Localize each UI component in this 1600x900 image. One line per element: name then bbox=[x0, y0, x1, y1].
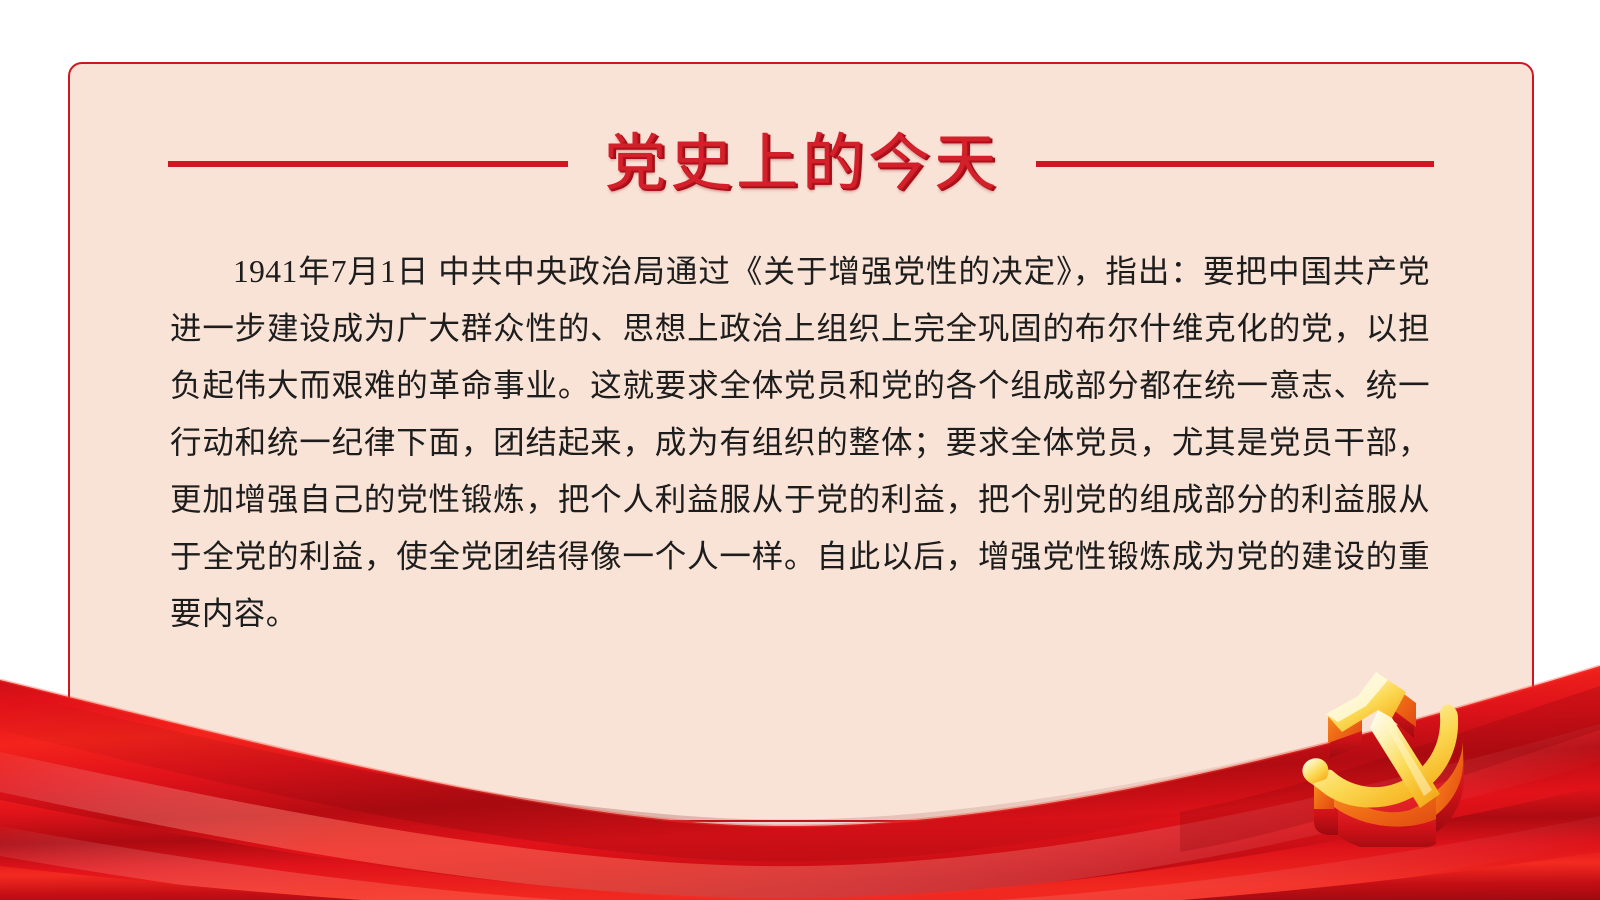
slide-canvas: 党史上的今天 1941年7月1日 中共中央政治局通过《关于增强党性的决定》，指出… bbox=[0, 0, 1600, 900]
hammer-and-sickle-emblem bbox=[1282, 662, 1482, 847]
decorative-rule-right bbox=[1036, 161, 1434, 167]
decorative-rule-left bbox=[168, 161, 568, 167]
title-bar: 党史上的今天 bbox=[68, 118, 1534, 210]
hammer-and-sickle-icon bbox=[1282, 662, 1482, 847]
article-paragraph: 1941年7月1日 中共中央政治局通过《关于增强党性的决定》，指出：要把中国共产… bbox=[170, 243, 1430, 642]
page-title: 党史上的今天 bbox=[604, 133, 1000, 195]
